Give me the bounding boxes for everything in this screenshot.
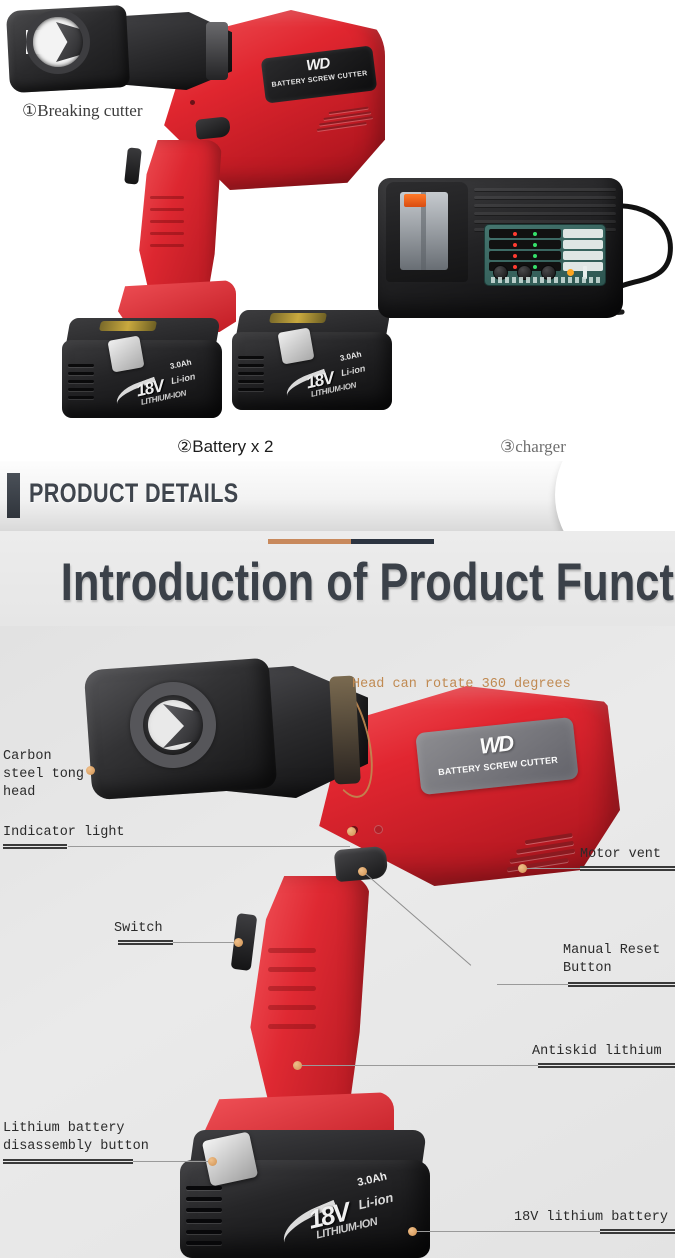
package-contents-section: WD BATTERY SCREW CUTTER 3.0Ah 18V Li-ion… bbox=[0, 0, 675, 460]
charger-terminal bbox=[404, 194, 426, 207]
annotation-indicator-light: Indicator light bbox=[3, 824, 125, 842]
battery-chemistry: Li-ion bbox=[170, 371, 196, 386]
product-battery-pack: 3.0Ah 18V Li-ion LITHIUM-ION bbox=[180, 1130, 430, 1258]
callout-dot-tong-head bbox=[86, 766, 95, 775]
underline-switch bbox=[118, 940, 173, 945]
underline-manual-reset-button bbox=[568, 982, 675, 987]
secondary-indicator bbox=[374, 825, 383, 834]
trigger-switch bbox=[124, 147, 142, 184]
diagonal-leader-manual-reset bbox=[363, 871, 472, 966]
banner-title: PRODUCT DETAILS bbox=[29, 478, 239, 509]
underline-antiskid-lithium bbox=[538, 1063, 675, 1068]
charger-spec-text bbox=[491, 277, 601, 283]
leader-18v-lithium-battery bbox=[415, 1231, 600, 1232]
callout-dot-switch bbox=[234, 938, 243, 947]
tool-collar bbox=[206, 22, 228, 80]
intro-title: Introduction of Product Function bbox=[61, 555, 615, 611]
leader-disassembly-button bbox=[133, 1161, 211, 1162]
page-curl-decoration bbox=[555, 461, 675, 531]
underline-disassembly-button bbox=[3, 1159, 133, 1164]
banner-accent-bar bbox=[7, 473, 20, 518]
underline-18v-lithium-battery bbox=[600, 1229, 675, 1234]
product-details-banner: PRODUCT DETAILS bbox=[0, 461, 675, 531]
underline-motor-vent bbox=[580, 866, 675, 871]
caption-battery: ②Battery x 2 bbox=[177, 437, 274, 457]
rule-segment-right bbox=[351, 539, 434, 544]
annotation-18v-lithium-battery: 18V lithium battery bbox=[514, 1209, 668, 1227]
callout-dot-indicator-light bbox=[347, 827, 356, 836]
jaw-ring bbox=[26, 10, 90, 74]
annotation-antiskid-lithium: Antiskid lithium bbox=[532, 1043, 662, 1061]
intro-divider-rule bbox=[268, 539, 434, 544]
callout-dot-motor-vent bbox=[518, 864, 527, 873]
leader-switch bbox=[173, 942, 237, 943]
battery-release-button bbox=[277, 327, 314, 364]
annotation-lithium-battery-disassembly-button: Lithium battery disassembly button bbox=[3, 1120, 149, 1156]
annotation-switch: Switch bbox=[114, 920, 163, 938]
rule-segment-left bbox=[268, 539, 351, 544]
leader-manual-reset-button bbox=[497, 984, 568, 985]
battery-chemistry: Li-ion bbox=[357, 1190, 395, 1213]
charger-status-panel bbox=[484, 224, 606, 286]
battery-pack-1: 3.0Ah 18V Li-ion LITHIUM-ION bbox=[62, 318, 222, 418]
charger-image bbox=[378, 178, 638, 323]
caption-breaking-cutter: ①Breaking cutter bbox=[22, 100, 143, 122]
callout-dot-manual-reset-button bbox=[358, 867, 367, 876]
leader-indicator-light bbox=[68, 846, 350, 847]
annotation-manual-reset-button: Manual Reset Button bbox=[563, 942, 660, 978]
battery-chemistry: Li-ion bbox=[340, 363, 366, 378]
annotated-product-section: WD BATTERY SCREW CUTTER 3.0Ah 18V Li-ion… bbox=[0, 626, 675, 1258]
callout-dot-18v-lithium-battery bbox=[408, 1227, 417, 1236]
battery-pack-2: 3.0Ah 18V Li-ion LITHIUM-ION bbox=[232, 310, 392, 410]
grip-lines bbox=[150, 196, 190, 266]
intro-heading-block: Introduction of Product Function bbox=[0, 531, 675, 626]
callout-dot-disassembly-button bbox=[208, 1157, 217, 1166]
product-grip-lines bbox=[268, 948, 324, 1058]
annotation-motor-vent: Motor vent bbox=[580, 846, 661, 864]
manual-reset-button-part bbox=[334, 846, 389, 882]
callout-dot-antiskid-lithium bbox=[293, 1061, 302, 1070]
leader-motor-vent bbox=[524, 868, 580, 869]
caption-charger: ③charger bbox=[500, 436, 566, 458]
battery-release-button bbox=[107, 335, 144, 372]
annotation-head-rotate: Head can rotate 360 degrees bbox=[352, 676, 571, 694]
indicator-light-dot bbox=[190, 100, 195, 105]
underline-indicator-light bbox=[3, 844, 67, 849]
annotation-carbon-steel-tong-head: Carbon steel tong head bbox=[3, 748, 84, 802]
leader-antiskid-lithium bbox=[300, 1065, 538, 1066]
